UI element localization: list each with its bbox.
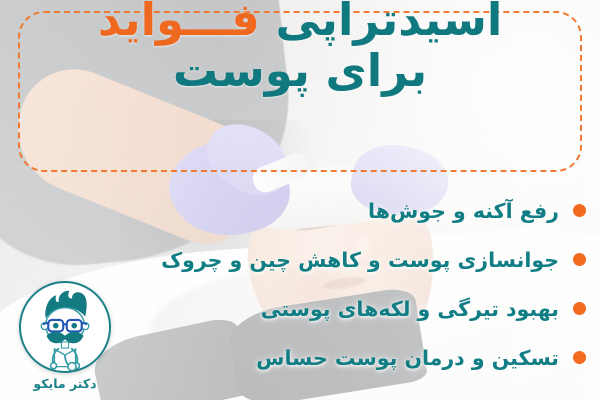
bullet-dot-icon <box>573 253 586 266</box>
benefit-label: رفع آکنه و جوش‌ها <box>368 199 559 223</box>
benefit-label: تسکین و درمان پوست حساس <box>256 346 559 370</box>
stethoscope-chestpiece <box>68 363 76 371</box>
doctor-mascot-icon <box>21 283 109 371</box>
benefit-label: بهبود تیرگی و لکه‌های پوستی <box>261 297 559 321</box>
poster-canvas: اسیدتراپی فـــواید برای پوست رفع آکنه و … <box>0 0 600 400</box>
logo-caption: دکتر مایکو <box>17 376 113 391</box>
page-title: اسیدتراپی فـــواید برای پوست <box>0 0 600 95</box>
bullet-dot-icon <box>573 204 586 217</box>
brand-logo[interactable]: دکتر مایکو <box>17 281 113 391</box>
title-word-acid-therapy: اسیدتراپی <box>276 0 503 46</box>
title-line-1: اسیدتراپی فـــواید <box>0 0 600 45</box>
mascot-eye-left <box>53 323 59 329</box>
mascot-eye-right <box>71 323 77 329</box>
stethoscope-earpiece-left <box>51 363 57 369</box>
list-item: جوانسازی پوست و کاهش چین و چروک <box>16 235 586 284</box>
list-item: رفع آکنه و جوش‌ها <box>16 186 586 235</box>
title-word-benefits: فـــواید <box>98 0 260 46</box>
bullet-dot-icon <box>573 351 586 364</box>
logo-badge-circle <box>19 281 111 373</box>
mascot-neck <box>61 342 68 348</box>
benefit-label: جوانسازی پوست و کاهش چین و چروک <box>161 248 559 272</box>
title-line-2: برای پوست <box>0 47 600 96</box>
bullet-dot-icon <box>573 302 586 315</box>
